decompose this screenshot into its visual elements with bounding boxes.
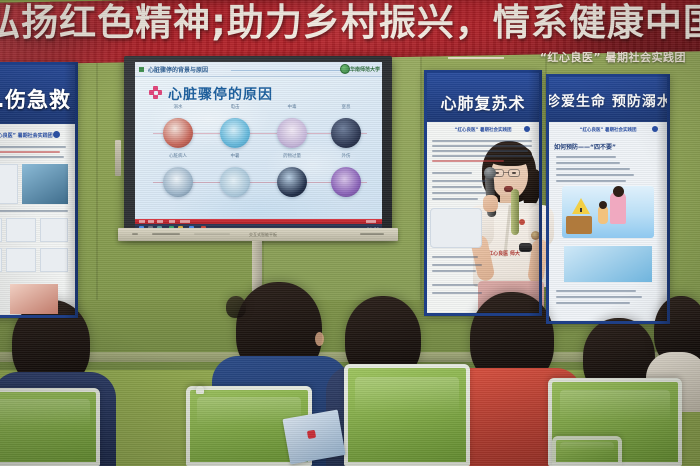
cause-image-node xyxy=(277,118,307,148)
interactive-smartboard[interactable]: 心脏骤停的背景与原因 华南师范大学 心脏骤停的原因 溺水 电击 中毒 窒息 xyxy=(124,56,392,236)
cause-image-node xyxy=(331,118,361,148)
chair-back xyxy=(344,364,470,466)
shirt-print-text: 红心良医 师大 xyxy=(486,251,522,257)
node-label: 中毒 xyxy=(272,104,312,110)
cpr-illustration xyxy=(430,208,482,248)
chair-back xyxy=(552,436,622,466)
chair-back xyxy=(0,388,100,466)
node-label: 外伤 xyxy=(326,153,366,159)
board-speaker xyxy=(115,140,121,176)
slide-header: 心脏骤停的背景与原因 华南师范大学 xyxy=(135,62,382,77)
first-aid-photo-1 xyxy=(22,164,68,204)
university-logo-icon xyxy=(340,64,350,74)
cause-image-node xyxy=(220,167,250,197)
board-vent xyxy=(194,233,230,235)
glasses-bridge xyxy=(504,172,509,173)
slide-breadcrumb: 心脏骤停的背景与原因 xyxy=(148,65,208,74)
rollup-dot-icon xyxy=(53,131,60,138)
node-label: 中暑 xyxy=(215,153,255,159)
slide-node-row-2: 心脏病人 中暑 药物过量 外伤 xyxy=(135,161,382,203)
annotation-tool[interactable] xyxy=(180,220,190,223)
slide-node-row-1: 溺水 电击 中毒 窒息 xyxy=(135,112,382,154)
rollup-banner-drowning: 珍爱生命 预防溺水 “红心良医” 暑期社会实践团 如何预防——“四不要” xyxy=(546,74,670,324)
rollup-shadow xyxy=(656,74,670,324)
medical-cross-icon xyxy=(149,86,162,99)
cause-image-node xyxy=(163,167,193,197)
first-aid-photo-2 xyxy=(10,284,58,314)
ear xyxy=(315,332,324,346)
annotation-tool[interactable] xyxy=(148,220,154,223)
cause-image-node xyxy=(331,167,361,197)
node-label: 窒息 xyxy=(326,104,366,110)
slide-header-marker xyxy=(139,67,144,72)
rollup-title: 心肺复苏术 xyxy=(424,90,542,114)
banner-main-text: 弘扬红色精神;助力乡村振兴，情系健康中国 xyxy=(0,1,700,45)
annotation-tool[interactable] xyxy=(139,220,145,223)
drowning-prevention-illustration xyxy=(562,186,654,238)
node-label: 药物过量 xyxy=(272,153,312,159)
rollup-title: 珍爱生命 预防溺水 xyxy=(546,91,670,111)
university-name: 华南师范大学 xyxy=(350,66,380,73)
slide-header-rule xyxy=(231,70,351,71)
node-label: 心脏病人 xyxy=(158,153,198,159)
first-aid-illustration-3 xyxy=(6,218,36,242)
banner-divider xyxy=(448,57,504,59)
node-label: 溺水 xyxy=(158,104,198,110)
cause-image-node xyxy=(163,118,193,148)
first-aid-illustration-6 xyxy=(6,248,36,272)
slide-title: 心脏骤停的原因 xyxy=(168,84,273,104)
first-aid-illustration-1 xyxy=(0,164,18,204)
rollup-banner-first-aid: …伤急救 “红心良医” 暑期社会实践团 …伤急救 “红心良医” 暑期社会实践团 xyxy=(0,62,78,318)
board-control-strip[interactable]: 交互式智能平板 xyxy=(118,228,398,241)
cause-image-node xyxy=(277,167,307,197)
heart-logo-icon xyxy=(307,429,316,438)
rollup-shadow xyxy=(528,70,542,316)
shirt-logo-icon xyxy=(519,219,525,225)
rollup-section-heading: 如何预防——“四不要” xyxy=(554,142,616,151)
annotation-tool[interactable] xyxy=(169,220,175,223)
board-stand-column xyxy=(252,241,262,291)
board-brand-label: 交互式智能平板 xyxy=(249,232,277,238)
drowning-photo xyxy=(564,246,652,282)
node-label: 电击 xyxy=(215,104,255,110)
first-aid-illustration-5 xyxy=(0,248,2,272)
board-power-button[interactable] xyxy=(132,233,138,235)
audience-member-partial-head xyxy=(226,296,246,318)
banner-sub-text: “红心良医” 暑期社会实践团 xyxy=(540,49,686,65)
annotation-close[interactable] xyxy=(366,220,376,223)
first-aid-illustration-2 xyxy=(0,218,2,242)
glasses-icon xyxy=(508,169,520,177)
second-microphone-icon[interactable] xyxy=(511,189,519,235)
microphone-head-icon xyxy=(484,167,496,179)
rollup-shadow xyxy=(64,62,78,318)
board-vent xyxy=(152,233,180,235)
cause-image-node xyxy=(220,118,250,148)
presenter-hand xyxy=(483,195,498,212)
board-sensor-strip xyxy=(360,233,384,235)
pamphlet[interactable] xyxy=(282,409,345,464)
board-display[interactable]: 心脏骤停的背景与原因 华南师范大学 心脏骤停的原因 溺水 电击 中毒 窒息 xyxy=(135,62,382,219)
photo-scene: 弘扬红色精神;助力乡村振兴，情系健康中国 “红心良医” 暑期社会实践团 …伤急救… xyxy=(0,0,700,466)
spacer xyxy=(196,386,204,394)
annotation-tool[interactable] xyxy=(157,220,163,223)
